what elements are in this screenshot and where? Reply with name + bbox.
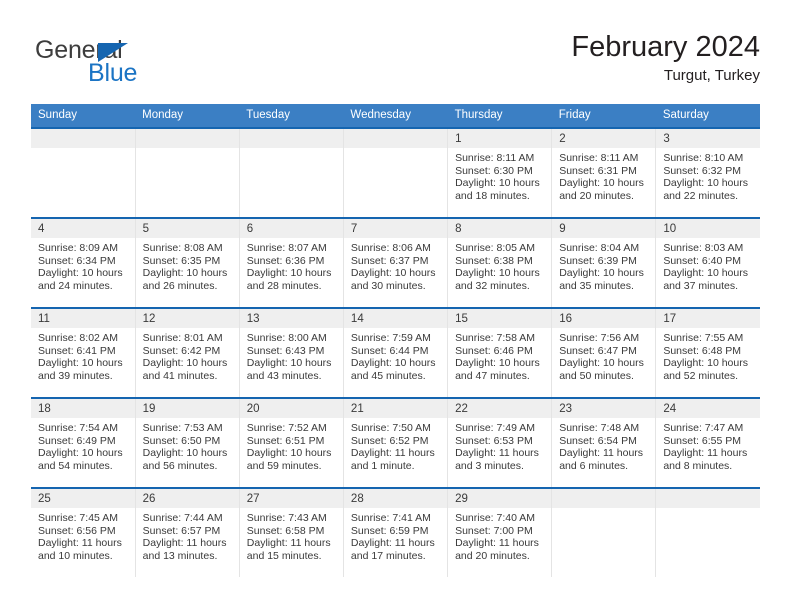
day-detail-sunset: Sunset: 6:42 PM xyxy=(143,345,233,358)
day-detail-daylight-line2: and 56 minutes. xyxy=(143,460,233,473)
day-detail-sunset: Sunset: 6:32 PM xyxy=(663,165,754,178)
day-number: 20 xyxy=(240,399,343,418)
calendar-body: 1Sunrise: 8:11 AMSunset: 6:30 PMDaylight… xyxy=(31,128,760,577)
day-detail-sunrise: Sunrise: 7:40 AM xyxy=(455,512,545,525)
day-number: 29 xyxy=(448,489,551,508)
day-detail-sunset: Sunset: 6:52 PM xyxy=(351,435,441,448)
day-number: 28 xyxy=(344,489,447,508)
day-detail-daylight-line1: Daylight: 10 hours xyxy=(38,267,129,280)
day-details: Sunrise: 8:02 AMSunset: 6:41 PMDaylight:… xyxy=(31,328,135,382)
weekday-header-saturday: Saturday xyxy=(656,104,760,128)
day-detail-sunset: Sunset: 6:57 PM xyxy=(143,525,233,538)
calendar-day-cell[interactable]: 2Sunrise: 8:11 AMSunset: 6:31 PMDaylight… xyxy=(552,128,656,218)
day-detail-sunrise: Sunrise: 7:43 AM xyxy=(247,512,337,525)
day-detail-sunset: Sunset: 6:58 PM xyxy=(247,525,337,538)
day-details xyxy=(31,148,135,152)
calendar-day-cell-empty xyxy=(239,128,343,218)
day-details: Sunrise: 8:03 AMSunset: 6:40 PMDaylight:… xyxy=(656,238,760,292)
day-detail-sunrise: Sunrise: 7:49 AM xyxy=(455,422,545,435)
calendar-day-cell[interactable]: 12Sunrise: 8:01 AMSunset: 6:42 PMDayligh… xyxy=(135,308,239,398)
day-detail-sunset: Sunset: 6:50 PM xyxy=(143,435,233,448)
day-detail-daylight-line2: and 30 minutes. xyxy=(351,280,441,293)
day-detail-sunrise: Sunrise: 8:11 AM xyxy=(559,152,649,165)
day-detail-daylight-line1: Daylight: 10 hours xyxy=(143,447,233,460)
day-number: 1 xyxy=(448,129,551,148)
calendar-day-cell[interactable]: 8Sunrise: 8:05 AMSunset: 6:38 PMDaylight… xyxy=(448,218,552,308)
calendar-day-cell-empty xyxy=(656,488,760,577)
calendar-day-cell-empty xyxy=(552,488,656,577)
calendar-day-cell[interactable]: 16Sunrise: 7:56 AMSunset: 6:47 PMDayligh… xyxy=(552,308,656,398)
day-detail-daylight-line2: and 24 minutes. xyxy=(38,280,129,293)
day-details: Sunrise: 8:04 AMSunset: 6:39 PMDaylight:… xyxy=(552,238,655,292)
calendar-day-cell-empty xyxy=(343,128,447,218)
day-detail-daylight-line2: and 35 minutes. xyxy=(559,280,649,293)
day-detail-sunset: Sunset: 6:59 PM xyxy=(351,525,441,538)
day-detail-sunset: Sunset: 6:37 PM xyxy=(351,255,441,268)
day-detail-sunrise: Sunrise: 7:48 AM xyxy=(559,422,649,435)
day-details: Sunrise: 7:48 AMSunset: 6:54 PMDaylight:… xyxy=(552,418,655,472)
day-number xyxy=(344,129,447,148)
calendar-day-cell-empty xyxy=(31,128,135,218)
day-detail-daylight-line1: Daylight: 11 hours xyxy=(559,447,649,460)
logo-text-blue: Blue xyxy=(88,59,137,87)
day-detail-sunset: Sunset: 6:36 PM xyxy=(247,255,337,268)
day-detail-sunset: Sunset: 6:55 PM xyxy=(663,435,754,448)
day-detail-daylight-line2: and 6 minutes. xyxy=(559,460,649,473)
calendar-day-cell[interactable]: 13Sunrise: 8:00 AMSunset: 6:43 PMDayligh… xyxy=(239,308,343,398)
calendar-day-cell[interactable]: 7Sunrise: 8:06 AMSunset: 6:37 PMDaylight… xyxy=(343,218,447,308)
day-number: 22 xyxy=(448,399,551,418)
day-number: 10 xyxy=(656,219,760,238)
calendar-week-row: 4Sunrise: 8:09 AMSunset: 6:34 PMDaylight… xyxy=(31,218,760,308)
calendar-day-cell[interactable]: 18Sunrise: 7:54 AMSunset: 6:49 PMDayligh… xyxy=(31,398,135,488)
day-detail-daylight-line1: Daylight: 10 hours xyxy=(455,177,545,190)
day-detail-daylight-line1: Daylight: 10 hours xyxy=(247,357,337,370)
calendar-week-row: 11Sunrise: 8:02 AMSunset: 6:41 PMDayligh… xyxy=(31,308,760,398)
day-number: 16 xyxy=(552,309,655,328)
day-detail-daylight-line1: Daylight: 10 hours xyxy=(663,177,754,190)
day-number: 6 xyxy=(240,219,343,238)
calendar-header-row: Sunday Monday Tuesday Wednesday Thursday… xyxy=(31,104,760,128)
day-detail-sunset: Sunset: 6:44 PM xyxy=(351,345,441,358)
day-detail-sunset: Sunset: 6:39 PM xyxy=(559,255,649,268)
day-detail-daylight-line1: Daylight: 10 hours xyxy=(455,357,545,370)
day-detail-daylight-line2: and 1 minute. xyxy=(351,460,441,473)
weekday-header-monday: Monday xyxy=(135,104,239,128)
day-number: 3 xyxy=(656,129,760,148)
day-number: 14 xyxy=(344,309,447,328)
day-detail-sunset: Sunset: 6:54 PM xyxy=(559,435,649,448)
day-details: Sunrise: 7:52 AMSunset: 6:51 PMDaylight:… xyxy=(240,418,343,472)
day-detail-sunset: Sunset: 6:53 PM xyxy=(455,435,545,448)
day-details: Sunrise: 7:50 AMSunset: 6:52 PMDaylight:… xyxy=(344,418,447,472)
day-detail-daylight-line1: Daylight: 11 hours xyxy=(455,537,545,550)
calendar-day-cell[interactable]: 23Sunrise: 7:48 AMSunset: 6:54 PMDayligh… xyxy=(552,398,656,488)
day-detail-daylight-line1: Daylight: 11 hours xyxy=(455,447,545,460)
day-detail-daylight-line1: Daylight: 11 hours xyxy=(663,447,754,460)
day-details: Sunrise: 7:54 AMSunset: 6:49 PMDaylight:… xyxy=(31,418,135,472)
day-detail-sunrise: Sunrise: 7:59 AM xyxy=(351,332,441,345)
location-subtitle: Turgut, Turkey xyxy=(571,66,760,86)
day-detail-sunrise: Sunrise: 8:02 AM xyxy=(38,332,129,345)
general-blue-logo: General Blue xyxy=(31,36,261,92)
day-detail-daylight-line1: Daylight: 10 hours xyxy=(247,447,337,460)
day-detail-sunset: Sunset: 6:31 PM xyxy=(559,165,649,178)
calendar-day-cell[interactable]: 20Sunrise: 7:52 AMSunset: 6:51 PMDayligh… xyxy=(239,398,343,488)
day-number: 7 xyxy=(344,219,447,238)
calendar-day-cell[interactable]: 3Sunrise: 8:10 AMSunset: 6:32 PMDaylight… xyxy=(656,128,760,218)
day-details: Sunrise: 8:10 AMSunset: 6:32 PMDaylight:… xyxy=(656,148,760,202)
day-number xyxy=(656,489,760,508)
day-number: 26 xyxy=(136,489,239,508)
day-detail-daylight-line1: Daylight: 10 hours xyxy=(455,267,545,280)
day-detail-daylight-line2: and 20 minutes. xyxy=(455,550,545,563)
day-details: Sunrise: 7:58 AMSunset: 6:46 PMDaylight:… xyxy=(448,328,551,382)
day-detail-sunrise: Sunrise: 8:03 AM xyxy=(663,242,754,255)
day-detail-sunrise: Sunrise: 7:50 AM xyxy=(351,422,441,435)
calendar-day-cell-empty xyxy=(135,128,239,218)
day-number: 8 xyxy=(448,219,551,238)
calendar-day-cell[interactable]: 24Sunrise: 7:47 AMSunset: 6:55 PMDayligh… xyxy=(656,398,760,488)
day-number: 17 xyxy=(656,309,760,328)
day-details: Sunrise: 7:43 AMSunset: 6:58 PMDaylight:… xyxy=(240,508,343,562)
day-number: 24 xyxy=(656,399,760,418)
day-number: 4 xyxy=(31,219,135,238)
day-number: 13 xyxy=(240,309,343,328)
day-details: Sunrise: 8:08 AMSunset: 6:35 PMDaylight:… xyxy=(136,238,239,292)
day-detail-daylight-line1: Daylight: 11 hours xyxy=(351,447,441,460)
day-detail-sunrise: Sunrise: 7:55 AM xyxy=(663,332,754,345)
day-detail-daylight-line2: and 37 minutes. xyxy=(663,280,754,293)
day-detail-sunset: Sunset: 6:41 PM xyxy=(38,345,129,358)
day-detail-sunset: Sunset: 6:46 PM xyxy=(455,345,545,358)
day-detail-sunset: Sunset: 6:51 PM xyxy=(247,435,337,448)
calendar-week-row: 1Sunrise: 8:11 AMSunset: 6:30 PMDaylight… xyxy=(31,128,760,218)
calendar-day-cell[interactable]: 15Sunrise: 7:58 AMSunset: 6:46 PMDayligh… xyxy=(448,308,552,398)
day-detail-daylight-line1: Daylight: 10 hours xyxy=(559,357,649,370)
day-number: 18 xyxy=(31,399,135,418)
day-detail-sunrise: Sunrise: 7:52 AM xyxy=(247,422,337,435)
day-details: Sunrise: 7:56 AMSunset: 6:47 PMDaylight:… xyxy=(552,328,655,382)
day-details xyxy=(552,508,655,512)
day-details: Sunrise: 8:09 AMSunset: 6:34 PMDaylight:… xyxy=(31,238,135,292)
calendar-day-cell[interactable]: 25Sunrise: 7:45 AMSunset: 6:56 PMDayligh… xyxy=(31,488,135,577)
day-detail-daylight-line2: and 32 minutes. xyxy=(455,280,545,293)
weekday-header-thursday: Thursday xyxy=(448,104,552,128)
calendar-day-cell[interactable]: 10Sunrise: 8:03 AMSunset: 6:40 PMDayligh… xyxy=(656,218,760,308)
calendar-day-cell[interactable]: 9Sunrise: 8:04 AMSunset: 6:39 PMDaylight… xyxy=(552,218,656,308)
day-detail-sunset: Sunset: 7:00 PM xyxy=(455,525,545,538)
day-detail-sunrise: Sunrise: 7:56 AM xyxy=(559,332,649,345)
calendar-week-row: 25Sunrise: 7:45 AMSunset: 6:56 PMDayligh… xyxy=(31,488,760,577)
day-detail-sunrise: Sunrise: 8:01 AM xyxy=(143,332,233,345)
day-detail-sunrise: Sunrise: 8:07 AM xyxy=(247,242,337,255)
day-details xyxy=(240,148,343,152)
day-detail-sunrise: Sunrise: 7:41 AM xyxy=(351,512,441,525)
day-detail-daylight-line1: Daylight: 10 hours xyxy=(143,357,233,370)
day-detail-sunset: Sunset: 6:30 PM xyxy=(455,165,545,178)
day-detail-daylight-line2: and 3 minutes. xyxy=(455,460,545,473)
day-details: Sunrise: 7:44 AMSunset: 6:57 PMDaylight:… xyxy=(136,508,239,562)
day-number: 27 xyxy=(240,489,343,508)
day-number xyxy=(240,129,343,148)
calendar-day-cell[interactable]: 1Sunrise: 8:11 AMSunset: 6:30 PMDaylight… xyxy=(448,128,552,218)
calendar-day-cell[interactable]: 4Sunrise: 8:09 AMSunset: 6:34 PMDaylight… xyxy=(31,218,135,308)
day-detail-daylight-line1: Daylight: 10 hours xyxy=(143,267,233,280)
day-detail-daylight-line2: and 50 minutes. xyxy=(559,370,649,383)
day-detail-daylight-line2: and 41 minutes. xyxy=(143,370,233,383)
day-number: 5 xyxy=(136,219,239,238)
day-details xyxy=(344,148,447,152)
day-detail-daylight-line1: Daylight: 11 hours xyxy=(247,537,337,550)
day-detail-daylight-line2: and 43 minutes. xyxy=(247,370,337,383)
day-number xyxy=(552,489,655,508)
day-detail-sunrise: Sunrise: 8:08 AM xyxy=(143,242,233,255)
day-detail-sunrise: Sunrise: 7:45 AM xyxy=(38,512,129,525)
day-details: Sunrise: 8:11 AMSunset: 6:30 PMDaylight:… xyxy=(448,148,551,202)
day-details: Sunrise: 7:41 AMSunset: 6:59 PMDaylight:… xyxy=(344,508,447,562)
weekday-header-sunday: Sunday xyxy=(31,104,135,128)
day-detail-daylight-line2: and 28 minutes. xyxy=(247,280,337,293)
day-detail-daylight-line2: and 13 minutes. xyxy=(143,550,233,563)
day-detail-daylight-line1: Daylight: 11 hours xyxy=(38,537,129,550)
day-details: Sunrise: 7:45 AMSunset: 6:56 PMDaylight:… xyxy=(31,508,135,562)
calendar-day-cell[interactable]: 6Sunrise: 8:07 AMSunset: 6:36 PMDaylight… xyxy=(239,218,343,308)
day-detail-daylight-line2: and 47 minutes. xyxy=(455,370,545,383)
calendar-day-cell[interactable]: 14Sunrise: 7:59 AMSunset: 6:44 PMDayligh… xyxy=(343,308,447,398)
day-details xyxy=(656,508,760,512)
calendar-day-cell[interactable]: 29Sunrise: 7:40 AMSunset: 7:00 PMDayligh… xyxy=(448,488,552,577)
day-detail-sunrise: Sunrise: 7:54 AM xyxy=(38,422,129,435)
day-detail-daylight-line1: Daylight: 10 hours xyxy=(559,267,649,280)
day-detail-daylight-line1: Daylight: 10 hours xyxy=(351,267,441,280)
calendar-day-cell[interactable]: 21Sunrise: 7:50 AMSunset: 6:52 PMDayligh… xyxy=(343,398,447,488)
day-detail-daylight-line1: Daylight: 10 hours xyxy=(559,177,649,190)
day-detail-daylight-line2: and 10 minutes. xyxy=(38,550,129,563)
day-detail-sunrise: Sunrise: 8:10 AM xyxy=(663,152,754,165)
day-details: Sunrise: 7:47 AMSunset: 6:55 PMDaylight:… xyxy=(656,418,760,472)
day-detail-sunset: Sunset: 6:47 PM xyxy=(559,345,649,358)
calendar-day-cell[interactable]: 27Sunrise: 7:43 AMSunset: 6:58 PMDayligh… xyxy=(239,488,343,577)
day-detail-sunrise: Sunrise: 8:11 AM xyxy=(455,152,545,165)
calendar-week-row: 18Sunrise: 7:54 AMSunset: 6:49 PMDayligh… xyxy=(31,398,760,488)
calendar-day-cell[interactable]: 11Sunrise: 8:02 AMSunset: 6:41 PMDayligh… xyxy=(31,308,135,398)
day-detail-daylight-line2: and 54 minutes. xyxy=(38,460,129,473)
day-detail-daylight-line2: and 26 minutes. xyxy=(143,280,233,293)
day-detail-daylight-line2: and 59 minutes. xyxy=(247,460,337,473)
day-details: Sunrise: 7:55 AMSunset: 6:48 PMDaylight:… xyxy=(656,328,760,382)
day-details: Sunrise: 8:11 AMSunset: 6:31 PMDaylight:… xyxy=(552,148,655,202)
day-detail-sunset: Sunset: 6:56 PM xyxy=(38,525,129,538)
day-number: 2 xyxy=(552,129,655,148)
day-details: Sunrise: 8:05 AMSunset: 6:38 PMDaylight:… xyxy=(448,238,551,292)
day-details: Sunrise: 8:01 AMSunset: 6:42 PMDaylight:… xyxy=(136,328,239,382)
day-detail-daylight-line2: and 22 minutes. xyxy=(663,190,754,203)
day-number xyxy=(31,129,135,148)
day-number: 12 xyxy=(136,309,239,328)
calendar-day-cell[interactable]: 19Sunrise: 7:53 AMSunset: 6:50 PMDayligh… xyxy=(135,398,239,488)
calendar-day-cell[interactable]: 17Sunrise: 7:55 AMSunset: 6:48 PMDayligh… xyxy=(656,308,760,398)
day-detail-daylight-line1: Daylight: 10 hours xyxy=(38,357,129,370)
day-detail-sunset: Sunset: 6:49 PM xyxy=(38,435,129,448)
day-detail-sunrise: Sunrise: 8:09 AM xyxy=(38,242,129,255)
calendar-day-cell[interactable]: 22Sunrise: 7:49 AMSunset: 6:53 PMDayligh… xyxy=(448,398,552,488)
day-details xyxy=(136,148,239,152)
day-detail-daylight-line1: Daylight: 10 hours xyxy=(247,267,337,280)
day-detail-sunrise: Sunrise: 7:58 AM xyxy=(455,332,545,345)
day-details: Sunrise: 8:06 AMSunset: 6:37 PMDaylight:… xyxy=(344,238,447,292)
day-details: Sunrise: 7:53 AMSunset: 6:50 PMDaylight:… xyxy=(136,418,239,472)
day-detail-daylight-line2: and 39 minutes. xyxy=(38,370,129,383)
page-header: General Blue February 2024 Turgut, Turke… xyxy=(31,30,760,96)
day-detail-daylight-line2: and 8 minutes. xyxy=(663,460,754,473)
day-detail-daylight-line1: Daylight: 10 hours xyxy=(663,267,754,280)
weekday-header-tuesday: Tuesday xyxy=(239,104,343,128)
day-details: Sunrise: 7:49 AMSunset: 6:53 PMDaylight:… xyxy=(448,418,551,472)
day-detail-sunset: Sunset: 6:38 PM xyxy=(455,255,545,268)
day-number: 23 xyxy=(552,399,655,418)
calendar-day-cell[interactable]: 28Sunrise: 7:41 AMSunset: 6:59 PMDayligh… xyxy=(343,488,447,577)
day-detail-sunset: Sunset: 6:35 PM xyxy=(143,255,233,268)
day-detail-sunset: Sunset: 6:40 PM xyxy=(663,255,754,268)
day-detail-sunset: Sunset: 6:48 PM xyxy=(663,345,754,358)
day-number: 25 xyxy=(31,489,135,508)
day-detail-sunrise: Sunrise: 7:53 AM xyxy=(143,422,233,435)
day-detail-daylight-line2: and 17 minutes. xyxy=(351,550,441,563)
calendar-day-cell[interactable]: 26Sunrise: 7:44 AMSunset: 6:57 PMDayligh… xyxy=(135,488,239,577)
day-detail-daylight-line1: Daylight: 10 hours xyxy=(663,357,754,370)
weekday-header-friday: Friday xyxy=(552,104,656,128)
day-detail-sunrise: Sunrise: 7:47 AM xyxy=(663,422,754,435)
day-details: Sunrise: 8:07 AMSunset: 6:36 PMDaylight:… xyxy=(240,238,343,292)
day-number: 19 xyxy=(136,399,239,418)
page-title: February 2024 xyxy=(571,30,760,64)
day-detail-daylight-line2: and 18 minutes. xyxy=(455,190,545,203)
day-details: Sunrise: 7:40 AMSunset: 7:00 PMDaylight:… xyxy=(448,508,551,562)
day-detail-sunrise: Sunrise: 8:04 AM xyxy=(559,242,649,255)
day-details: Sunrise: 7:59 AMSunset: 6:44 PMDaylight:… xyxy=(344,328,447,382)
day-detail-sunrise: Sunrise: 8:00 AM xyxy=(247,332,337,345)
day-detail-daylight-line1: Daylight: 10 hours xyxy=(351,357,441,370)
day-detail-sunset: Sunset: 6:34 PM xyxy=(38,255,129,268)
day-number xyxy=(136,129,239,148)
day-detail-daylight-line2: and 20 minutes. xyxy=(559,190,649,203)
day-detail-sunset: Sunset: 6:43 PM xyxy=(247,345,337,358)
day-number: 21 xyxy=(344,399,447,418)
day-detail-daylight-line2: and 45 minutes. xyxy=(351,370,441,383)
day-detail-sunrise: Sunrise: 8:06 AM xyxy=(351,242,441,255)
day-detail-daylight-line1: Daylight: 11 hours xyxy=(351,537,441,550)
day-detail-daylight-line2: and 15 minutes. xyxy=(247,550,337,563)
day-detail-daylight-line1: Daylight: 10 hours xyxy=(38,447,129,460)
calendar-day-cell[interactable]: 5Sunrise: 8:08 AMSunset: 6:35 PMDaylight… xyxy=(135,218,239,308)
day-detail-daylight-line2: and 52 minutes. xyxy=(663,370,754,383)
calendar-table: Sunday Monday Tuesday Wednesday Thursday… xyxy=(31,104,760,577)
day-number: 9 xyxy=(552,219,655,238)
day-number: 11 xyxy=(31,309,135,328)
day-number: 15 xyxy=(448,309,551,328)
day-details: Sunrise: 8:00 AMSunset: 6:43 PMDaylight:… xyxy=(240,328,343,382)
calendar-page: General Blue February 2024 Turgut, Turke… xyxy=(0,0,792,612)
day-detail-sunrise: Sunrise: 7:44 AM xyxy=(143,512,233,525)
day-detail-daylight-line1: Daylight: 11 hours xyxy=(143,537,233,550)
weekday-header-wednesday: Wednesday xyxy=(343,104,447,128)
day-detail-sunrise: Sunrise: 8:05 AM xyxy=(455,242,545,255)
title-block: February 2024 Turgut, Turkey xyxy=(571,30,760,86)
